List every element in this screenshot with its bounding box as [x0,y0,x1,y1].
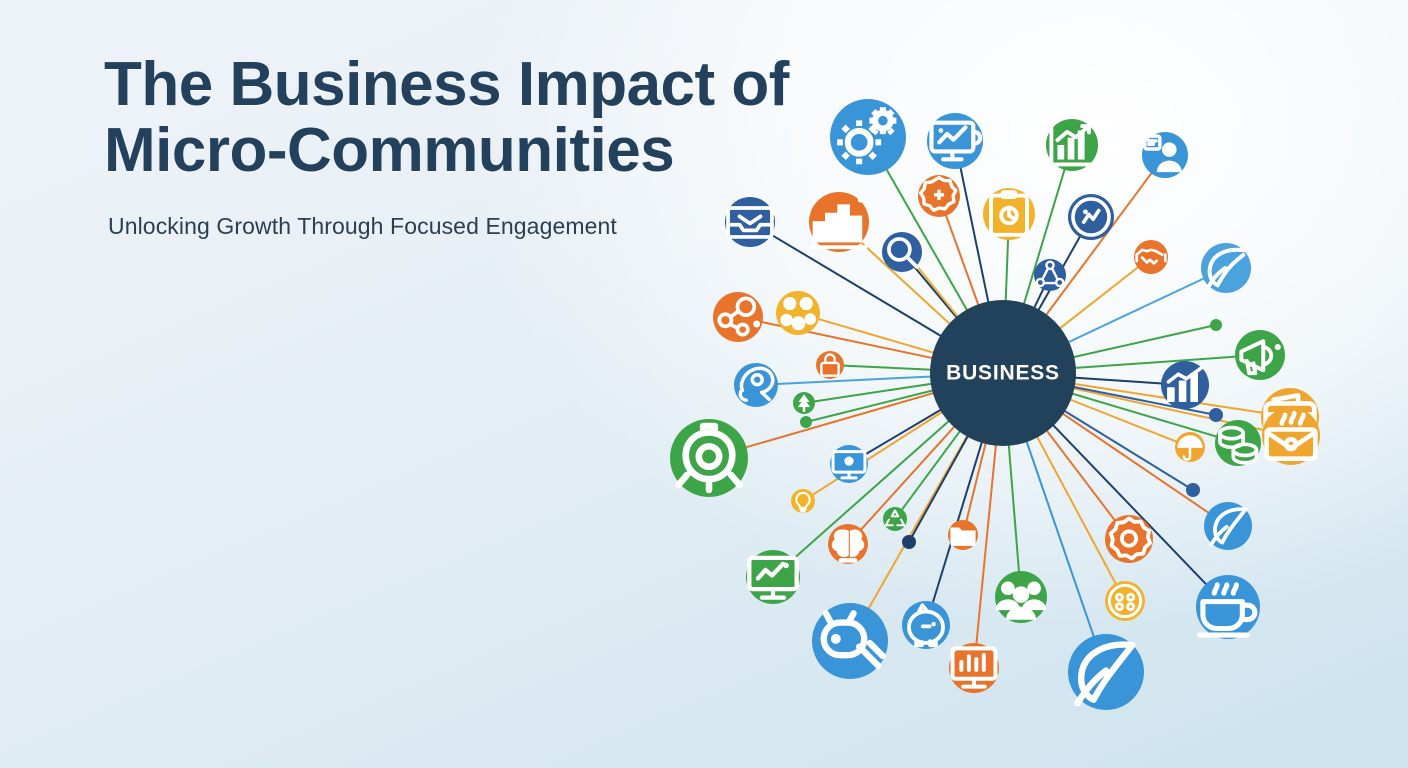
node-circle [1105,515,1153,563]
connector-line [868,435,967,609]
connector-line [843,366,932,370]
node-lock[interactable] [816,351,844,379]
node-circle [1134,240,1168,274]
hub-and-spoke-diagram: BUSINESS [640,20,1408,748]
node-group-people[interactable] [995,571,1047,623]
node-circle [927,113,983,169]
connector-line [864,409,941,455]
node-coins-alt[interactable] [1105,581,1145,621]
node-target[interactable] [1068,194,1114,240]
connector-line [1059,267,1139,329]
connector-line [812,411,943,495]
node-circle [812,603,888,679]
connector-line [1034,289,1044,309]
node-circle [1235,330,1285,380]
node-circle [1068,634,1144,710]
node-circle [948,520,978,550]
node-circle [793,392,815,414]
connector-line [1006,239,1008,302]
node-circle [809,192,869,252]
node-leaf-outline[interactable] [1201,243,1251,293]
connector-endpoint-dot [902,535,916,549]
node-circle [791,489,815,513]
node-shield-turtle[interactable] [670,419,748,497]
node-circle [1068,194,1114,240]
node-circle [1196,575,1260,639]
node-badge[interactable] [918,175,960,217]
node-coins[interactable] [1215,420,1261,466]
node-circle [746,550,800,604]
slide-canvas: The Business Impact of Micro-Communities… [0,0,1408,768]
connector-line [1045,173,1152,316]
node-circle [1161,361,1209,409]
node-brain[interactable] [828,524,868,564]
connector-line [960,167,988,303]
node-circle [949,643,999,693]
node-circle [828,524,868,564]
node-growth-chart[interactable] [1046,119,1098,171]
node-circle [1046,119,1098,171]
node-circle [1262,407,1320,465]
node-circle [670,419,748,497]
connector-line [1009,444,1019,572]
connector-line [976,444,996,644]
node-presentation-board[interactable] [949,643,999,693]
hub-label: BUSINESS [946,362,1060,385]
node-circle [1142,132,1188,178]
node-circle [882,232,922,272]
node-circle [1105,581,1145,621]
node-envelope-hot[interactable] [1262,407,1320,465]
node-chart-desktop[interactable] [746,550,800,604]
node-piggy-bank[interactable] [902,601,950,649]
node-circle [1034,259,1066,291]
node-rocket[interactable] [734,363,778,407]
connector-line [806,390,934,422]
node-gear-badge[interactable] [1105,515,1153,563]
node-search[interactable] [882,232,922,272]
connector-line [1074,357,1236,368]
node-circle [995,571,1047,623]
node-circle [734,363,778,407]
node-analytics[interactable] [1161,361,1209,409]
node-circle [883,507,907,531]
node-monitor[interactable] [830,445,868,483]
node-circle [983,188,1035,240]
node-circle [918,175,960,217]
connector-line [1036,436,1116,585]
node-network[interactable] [1034,259,1066,291]
connector-line [1074,378,1162,384]
node-circle [1201,243,1251,293]
node-inbox[interactable] [725,197,775,247]
node-leaf-solid[interactable] [1068,634,1144,710]
node-circle [1204,502,1252,550]
node-circle [725,197,775,247]
node-folder[interactable] [948,520,978,550]
node-circle [902,601,950,649]
node-recycle[interactable] [883,507,907,531]
node-user-profile[interactable] [1142,132,1188,178]
node-bulb[interactable] [791,489,815,513]
node-megaphone[interactable] [1235,330,1285,380]
node-circle [830,99,906,175]
node-clipboard[interactable] [983,188,1035,240]
connector-endpoint-dot [1186,483,1200,497]
node-circle [1215,420,1261,466]
node-circle [713,292,763,342]
connector-line [861,426,956,530]
node-plug[interactable] [812,603,888,679]
connector-line [777,376,932,384]
node-handshake[interactable] [1134,240,1168,274]
node-circle [830,445,868,483]
node-gears[interactable] [830,99,906,175]
node-circle [776,291,820,335]
connector-endpoint-dot [1209,408,1223,422]
node-coffee[interactable] [1196,575,1260,639]
node-bar-chart[interactable] [809,192,869,252]
connector-line [792,420,949,560]
connector-endpoint-dot [800,416,812,428]
connector-line [818,319,935,353]
hub-node[interactable]: BUSINESS [930,300,1076,446]
node-feather[interactable] [1204,502,1252,550]
connector-endpoint-dot [1210,319,1222,331]
page-title-line-2: Micro-Communities [104,116,674,185]
connector-line [746,393,935,448]
node-teamwork[interactable] [776,291,820,335]
node-presentation[interactable] [927,113,983,169]
node-molecule[interactable] [713,292,763,342]
node-circle [1175,432,1205,462]
node-tree-small[interactable] [793,392,815,414]
node-circle [816,351,844,379]
node-umbrella[interactable] [1175,432,1205,462]
